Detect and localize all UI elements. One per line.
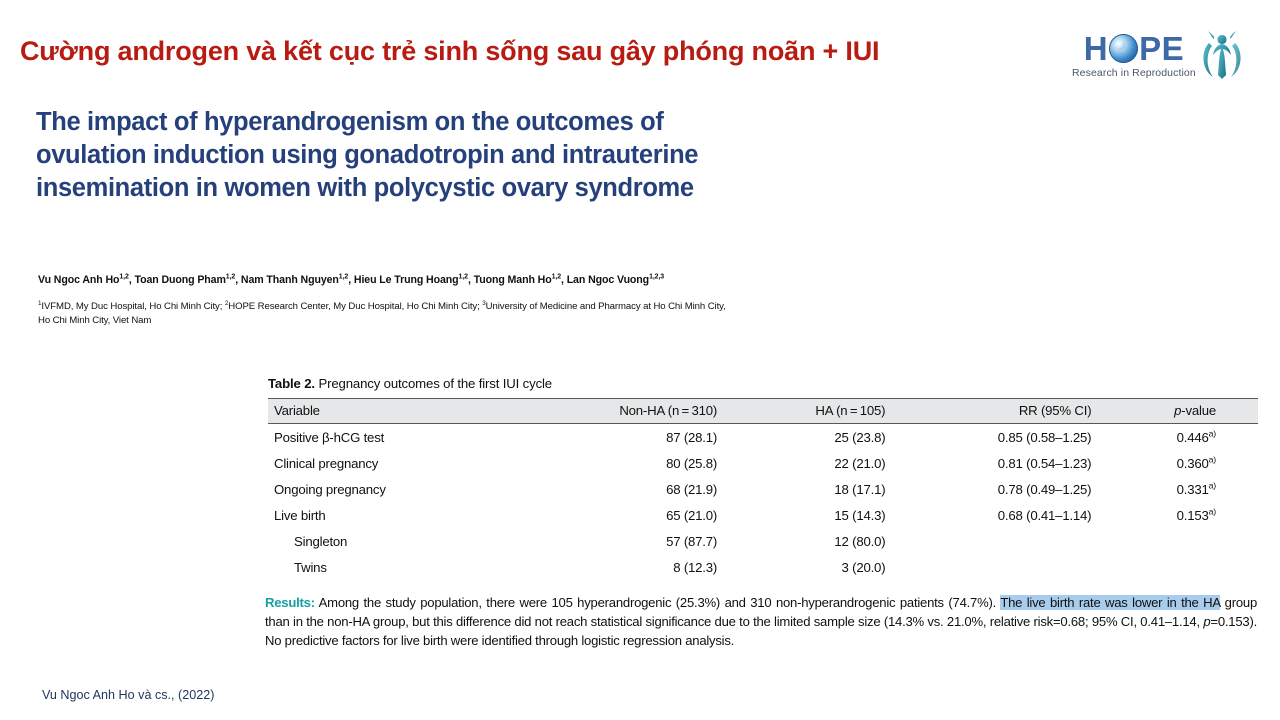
pvalue-footnote-marker: a) [1209,506,1216,516]
cell-variable: Clinical pregnancy [268,450,565,476]
cell-nonha: 68 (21.9) [565,476,753,502]
slide-footer-citation: Vu Ngoc Anh Ho và cs., (2022) [42,688,214,702]
logo-wordmark: H P E Research in Reproduction [1072,32,1196,79]
cell-pvalue: 0.153a) [1119,502,1258,528]
table-caption-text: Pregnancy outcomes of the first IUI cycl… [315,376,552,391]
pvalue-footnote-marker: a) [1209,454,1216,464]
cell-nonha: 87 (28.1) [565,424,753,451]
results-text-before: Among the study population, there were 1… [315,595,1001,610]
author-3: Nam Thanh Nguyen1,2 [241,274,348,286]
logo-letter-p: P [1139,32,1162,65]
logo-letter-h: H [1084,32,1108,65]
cell-nonha: 8 (12.3) [565,554,753,580]
results-label: Results: [265,595,315,610]
pvalue-footnote-marker: a) [1209,428,1216,438]
pvalue-footnote-marker: a) [1209,480,1216,490]
table-row: Live birth65 (21.0)15 (14.3)0.68 (0.41–1… [268,502,1258,528]
cell-rr: 0.78 (0.49–1.25) [921,476,1119,502]
logo-ovum-icon [1109,34,1138,63]
cell-variable: Live birth [268,502,565,528]
cell-rr: 0.68 (0.41–1.14) [921,502,1119,528]
table-body: Positive β-hCG test87 (28.1)25 (23.8)0.8… [268,424,1258,581]
slide-canvas: Cường androgen và kết cục trẻ sinh sống … [0,0,1280,720]
author-6: Lan Ngoc Vuong1,2,3 [567,274,664,286]
paper-title: The impact of hyperandrogenism on the ou… [36,106,746,205]
table-row: Twins8 (12.3)3 (20.0) [268,554,1258,580]
slide-title: Cường androgen và kết cục trẻ sinh sống … [20,36,1060,67]
cell-pvalue: 0.446a) [1119,424,1258,451]
cell-variable: Twins [268,554,565,580]
logo-tagline: Research in Reproduction [1072,67,1196,79]
table-header-row: Variable Non-HA (n = 310) HA (n = 105) R… [268,399,1258,424]
author-1: Vu Ngoc Anh Ho1,2 [38,274,129,286]
human-figure-icon [1200,27,1244,83]
cell-rr [921,554,1119,580]
table-head: Variable Non-HA (n = 310) HA (n = 105) R… [268,399,1258,424]
cell-ha: 3 (20.0) [753,554,921,580]
author-4: Hieu Le Trung Hoang1,2 [354,274,468,286]
logo-letter-e: E [1162,32,1185,65]
cell-ha: 15 (14.3) [753,502,921,528]
cell-variable: Singleton [268,528,565,554]
results-highlighted-text: The live birth rate was lower in the HA [1000,595,1220,610]
affiliations: 1IVFMD, My Duc Hospital, Ho Chi Minh Cit… [38,300,730,327]
table-caption-label: Table 2. [268,376,315,391]
cell-nonha: 57 (87.7) [565,528,753,554]
table-block: Table 2. Pregnancy outcomes of the first… [268,376,1258,580]
cell-variable: Positive β-hCG test [268,424,565,451]
cell-pvalue [1119,528,1258,554]
column-header-rr: RR (95% CI) [921,399,1119,424]
cell-ha: 22 (21.0) [753,450,921,476]
pregnancy-outcomes-table: Variable Non-HA (n = 310) HA (n = 105) R… [268,398,1258,580]
table-row: Positive β-hCG test87 (28.1)25 (23.8)0.8… [268,424,1258,451]
cell-pvalue: 0.360a) [1119,450,1258,476]
cell-rr [921,528,1119,554]
table-caption: Table 2. Pregnancy outcomes of the first… [268,376,1258,391]
cell-rr: 0.85 (0.58–1.25) [921,424,1119,451]
cell-variable: Ongoing pregnancy [268,476,565,502]
column-header-ha: HA (n = 105) [753,399,921,424]
author-list: Vu Ngoc Anh Ho1,2, Toan Duong Pham1,2, N… [38,274,738,288]
column-header-pvalue: p-value [1119,399,1258,424]
logo-hope-text: H P E [1084,32,1184,65]
cell-nonha: 65 (21.0) [565,502,753,528]
cell-nonha: 80 (25.8) [565,450,753,476]
cell-ha: 25 (23.8) [753,424,921,451]
cell-ha: 18 (17.1) [753,476,921,502]
cell-ha: 12 (80.0) [753,528,921,554]
author-5: Tuong Manh Ho1,2 [474,274,561,286]
author-2: Toan Duong Pham1,2 [135,274,236,286]
table-row: Ongoing pregnancy68 (21.9)18 (17.1)0.78 … [268,476,1258,502]
table-row: Singleton57 (87.7)12 (80.0) [268,528,1258,554]
table-row: Clinical pregnancy80 (25.8)22 (21.0)0.81… [268,450,1258,476]
hope-logo: H P E Research in Reproduction [1072,24,1258,86]
results-paragraph: Results: Among the study population, the… [265,594,1257,651]
column-header-nonha: Non-HA (n = 310) [565,399,753,424]
cell-pvalue: 0.331a) [1119,476,1258,502]
cell-pvalue [1119,554,1258,580]
cell-rr: 0.81 (0.54–1.23) [921,450,1119,476]
column-header-variable: Variable [268,399,565,424]
